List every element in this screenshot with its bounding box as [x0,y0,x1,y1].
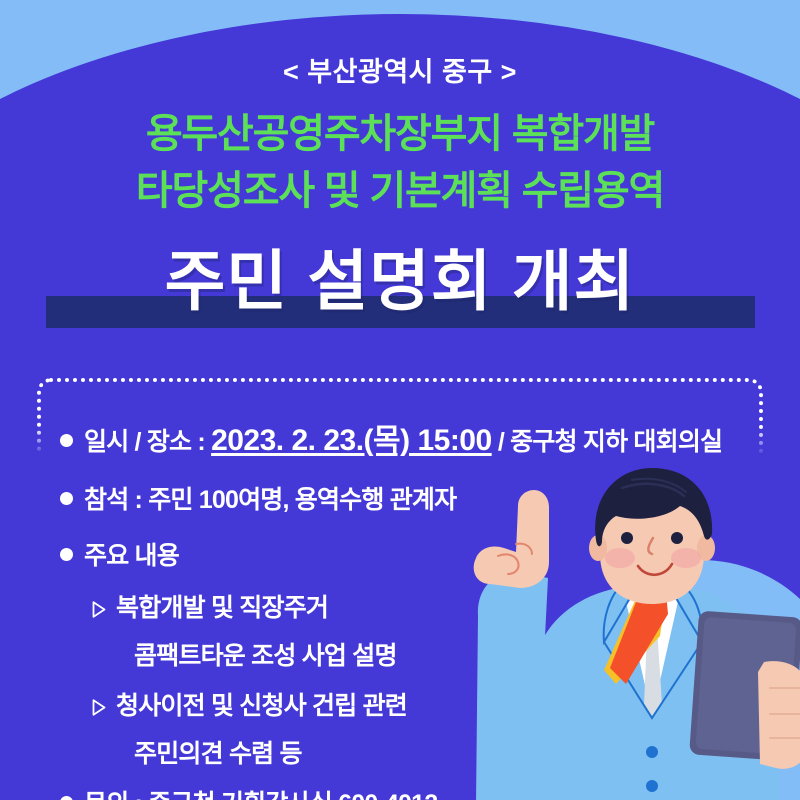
detail-row-contact-text: 문의 : 중구청 기획감사실 600-4012 [84,784,437,800]
datetime-value: 2023. 2. 23.(목) 15:00 [211,424,492,457]
detail-row-attendance-text: 참석 : 주민 100여명, 용역수행 관계자 [84,480,456,516]
detail-row-agenda-item-2-cont-text: 주민의견 수렴 등 [134,734,302,770]
poster-canvas: < 부산광역시 중구 > 용두산공영주차장부지 복합개발 타당성조사 및 기본계… [0,0,800,800]
organization-kicker: < 부산광역시 중구 > [0,50,800,89]
datetime-label: 일시 / 장소 : [84,428,211,456]
headline-block: 주민 설명회 개최 [0,240,800,340]
circle-bullet-icon [60,492,73,505]
circle-bullet-icon [60,434,73,447]
headline-text: 주민 설명회 개최 [0,240,800,323]
detail-row-agenda-item-1-cont-text: 콤팩트타운 조성 사업 설명 [134,636,397,672]
triangle-bullet-icon [92,601,106,618]
circle-bullet-icon [60,548,73,561]
project-title: 용두산공영주차장부지 복합개발 타당성조사 및 기본계획 수립용역 [0,106,800,220]
triangle-bullet-icon [92,699,106,716]
project-title-line-2: 타당성조사 및 기본계획 수립용역 [0,163,800,220]
project-title-line-1: 용두산공영주차장부지 복합개발 [0,106,800,163]
detail-row-agenda-item-1-text: 복합개발 및 직장주거 [116,588,328,624]
businessman-illustration [470,466,800,800]
venue-value: / 중구청 지하 대회의실 [492,428,723,456]
detail-row-datetime-venue-content: 일시 / 장소 : 2023. 2. 23.(목) 15:00 / 중구청 지하… [84,415,722,459]
detail-row-datetime-venue: 일시 / 장소 : 2023. 2. 23.(목) 15:00 / 중구청 지하… [60,415,760,459]
circle-bullet-icon [60,796,73,800]
detail-row-agenda-item-2-text: 청사이전 및 신청사 건립 관련 [116,686,407,722]
detail-row-agenda-heading-text: 주요 내용 [84,536,179,572]
